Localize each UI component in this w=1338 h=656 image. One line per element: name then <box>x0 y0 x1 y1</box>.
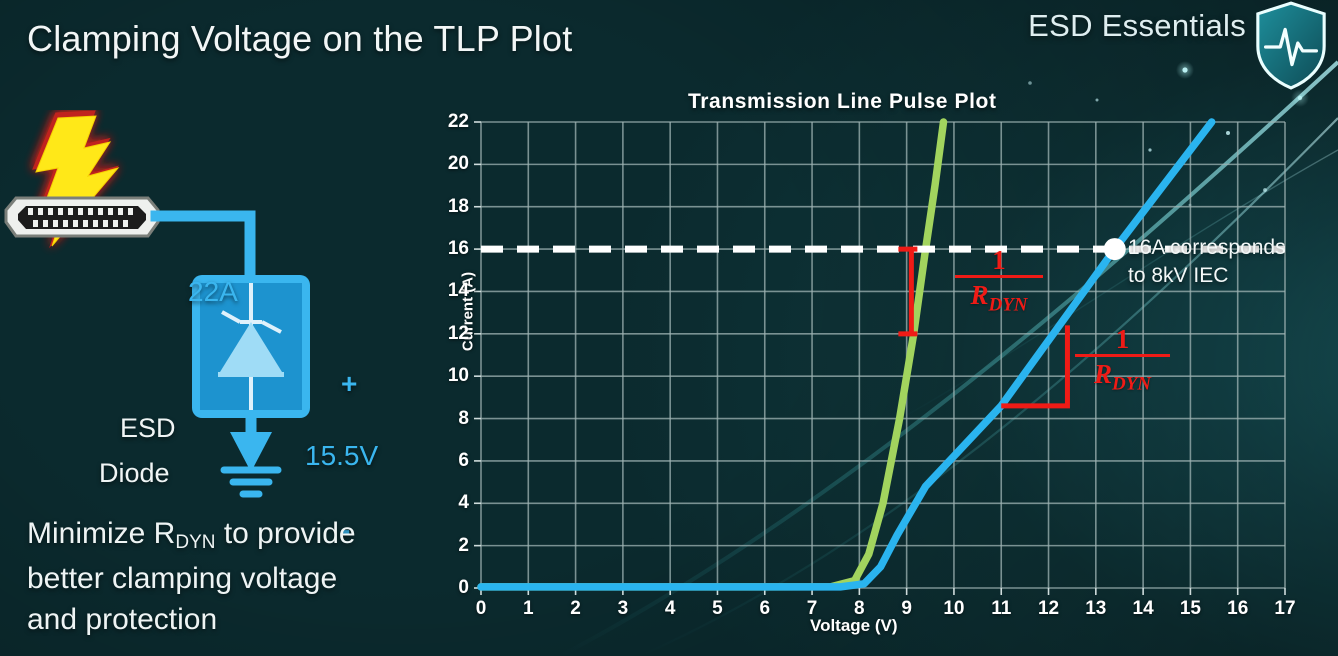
shield-ecg-icon <box>1252 0 1330 92</box>
takeaway-text: Minimize RDYN to provide better clamping… <box>27 513 447 640</box>
x-tick-label: 10 <box>943 598 964 620</box>
fraction-bar-2 <box>1075 354 1170 357</box>
slope-denominator-2: RDYN <box>1075 359 1170 399</box>
slope-denominator-1: RDYN <box>955 280 1043 320</box>
fraction-bar-1 <box>955 275 1043 278</box>
current-arrow <box>230 432 272 472</box>
y-tick-label: 18 <box>448 196 469 218</box>
x-tick-label: 4 <box>665 598 676 620</box>
x-tick-label: 8 <box>854 598 865 620</box>
tlp-chart: Transmission Line Pulse Plot Current (A)… <box>410 88 1338 656</box>
chart-title: Transmission Line Pulse Plot <box>688 90 997 114</box>
y-axis-label: Current (A) <box>460 252 477 372</box>
brand-title: ESD Essentials <box>1028 8 1246 44</box>
x-tick-label: 16 <box>1227 598 1248 620</box>
slope-label-2: 1 RDYN <box>1075 325 1170 399</box>
slide-canvas: Clamping Voltage on the TLP Plot ESD Ess… <box>0 0 1338 656</box>
x-tick-label: 0 <box>476 598 487 620</box>
circuit-wires <box>156 216 250 278</box>
x-tick-label: 14 <box>1133 598 1154 620</box>
device-label-line1: ESD <box>120 413 176 444</box>
y-tick-label: 10 <box>448 365 469 387</box>
y-tick-label: 22 <box>448 111 469 133</box>
chart-plot-area <box>410 88 1338 656</box>
hdmi-connector-icon <box>6 198 158 236</box>
slide-title: Clamping Voltage on the TLP Plot <box>27 18 572 60</box>
y-tick-label: 20 <box>448 153 469 175</box>
y-tick-label: 6 <box>458 450 469 472</box>
x-tick-label: 5 <box>712 598 723 620</box>
ground-icon <box>224 470 278 494</box>
slope-label-1: 1 RDYN <box>955 246 1043 320</box>
y-tick-label: 0 <box>458 577 469 599</box>
y-tick-label: 4 <box>458 492 469 514</box>
x-tick-label: 1 <box>523 598 534 620</box>
y-tick-label: 2 <box>458 535 469 557</box>
x-tick-label: 12 <box>1038 598 1059 620</box>
y-tick-label: 12 <box>448 323 469 345</box>
voltage-label: 15.5V <box>305 440 378 472</box>
slope-den-sub-2: DYN <box>1112 373 1151 394</box>
y-tick-label: 8 <box>458 408 469 430</box>
takeaway-line2: better clamping voltage <box>27 562 337 595</box>
y-tick-label: 16 <box>448 238 469 260</box>
y-tick-label: 14 <box>448 280 469 302</box>
x-tick-label: 15 <box>1180 598 1201 620</box>
slope-den-main-1: R <box>970 280 988 310</box>
x-tick-label: 13 <box>1085 598 1106 620</box>
device-label-line2: Diode <box>99 458 170 489</box>
slope-numerator-2: 1 <box>1075 325 1170 353</box>
x-tick-label: 9 <box>901 598 912 620</box>
x-tick-label: 3 <box>618 598 629 620</box>
x-tick-label: 2 <box>570 598 581 620</box>
esd-protection-circuit-diagram: 22A 15.5V + - ESD Diode <box>0 110 420 510</box>
current-label: 22A <box>188 276 238 308</box>
x-tick-label: 11 <box>991 598 1011 620</box>
takeaway-line1-sub: DYN <box>175 532 215 553</box>
marker-callout: 16A corresponds to 8kV IEC <box>1128 234 1286 290</box>
takeaway-line1-post: to provide <box>215 517 355 550</box>
x-tick-label: 7 <box>807 598 818 620</box>
marker-point-16a <box>1104 238 1126 260</box>
marker-callout-line2: to 8kV IEC <box>1128 264 1228 287</box>
x-tick-label: 6 <box>759 598 770 620</box>
x-tick-label: 17 <box>1274 598 1295 620</box>
slope-den-main-2: R <box>1094 359 1112 389</box>
slope-numerator-1: 1 <box>955 246 1043 274</box>
takeaway-line1-pre: Minimize R <box>27 517 175 550</box>
takeaway-line3: and protection <box>27 603 217 636</box>
marker-callout-line1: 16A corresponds <box>1128 236 1286 259</box>
slope-den-sub-1: DYN <box>988 294 1027 315</box>
chart-series-1 <box>481 122 944 587</box>
polarity-plus-label: + <box>341 368 357 400</box>
